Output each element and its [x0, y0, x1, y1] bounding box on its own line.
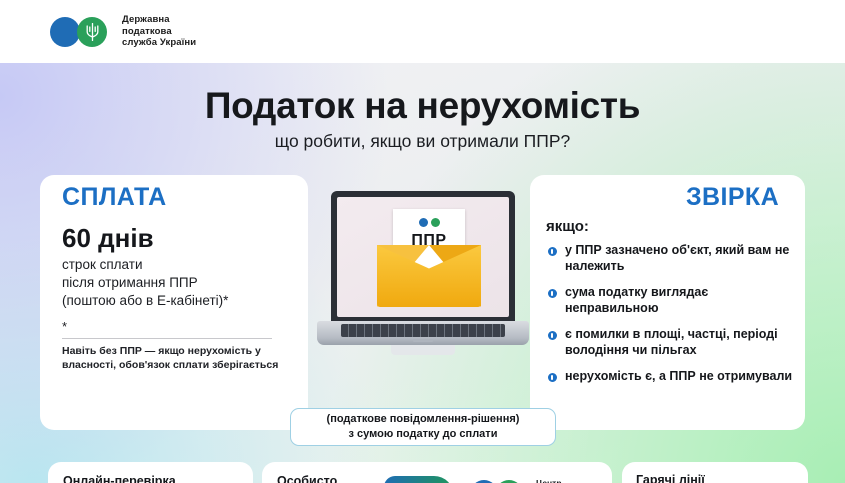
- footnote-star: *: [62, 319, 67, 334]
- payment-line-3: (поштою або в Е-кабінеті)*: [62, 292, 294, 310]
- info-bullet-icon: [548, 247, 557, 256]
- center-line-1: Центр: [536, 478, 605, 483]
- logo-circles: [50, 17, 112, 47]
- service-center-text: Центр обслуговування платників: [536, 478, 605, 483]
- laptop-keyboard: [341, 324, 505, 337]
- page-subtitle: що робити, якщо ви отримали ППР?: [0, 131, 845, 152]
- info-bullet-icon: [548, 331, 557, 340]
- laptop-lid: ППР: [331, 191, 515, 323]
- page-title: Податок на нерухомість: [0, 85, 845, 127]
- logo-blue-circle: [50, 17, 80, 47]
- list-item: є помилки в площі, частці, періоді волод…: [548, 327, 798, 358]
- reconciliation-if-label: якщо:: [546, 218, 589, 235]
- payment-term-value: 60 днів: [62, 223, 154, 254]
- in-person-title: Особисто: [277, 474, 390, 483]
- hotline-title: Гарячі лінії: [636, 473, 808, 483]
- online-check-card: Онлайн-перевірка cabinet.tax.gov.ua (КЕП…: [48, 462, 253, 483]
- list-item-label: сума податку виглядає неправильною: [565, 285, 798, 316]
- reconciliation-heading: ЗВІРКА: [686, 183, 779, 212]
- footnote-divider: [62, 338, 272, 339]
- list-item: нерухомість є, а ППР не отримували: [548, 369, 798, 385]
- caption-line-2: з сумою податку до сплати: [327, 427, 520, 442]
- laptop-icon: ППР: [317, 191, 529, 381]
- list-item-label: нерухомість є, а ППР не отримували: [565, 369, 792, 385]
- page-header: Державна податкова служба України: [0, 0, 845, 63]
- logo-green-circle: [77, 17, 107, 47]
- laptop-screen: ППР: [337, 197, 509, 317]
- laptop-stand: [391, 345, 455, 355]
- organization-name: Державна податкова служба України: [122, 14, 196, 49]
- in-person-card: Особисто м. Київ, вул. Миколи Лєскова, 4…: [262, 462, 612, 483]
- payment-heading: СПЛАТА: [62, 183, 167, 212]
- org-line-2: податкова: [122, 26, 196, 38]
- illustration-caption: (податкове повідомлення-рішення) з сумою…: [290, 408, 556, 446]
- online-check-title: Онлайн-перевірка: [63, 474, 253, 483]
- list-item-label: є помилки в площі, частці, періоді волод…: [565, 327, 798, 358]
- letter-dot-green-icon: [431, 218, 440, 227]
- hotline-card: Гарячі лінії (075) 928-02-23 (WhatsApp) …: [622, 462, 808, 483]
- reconciliation-list: у ППР зазначено об'єкт, який вам не нале…: [548, 243, 798, 396]
- infographic-canvas: Податок на нерухомість що робити, якщо в…: [0, 63, 845, 483]
- laptop-trackpad: [413, 339, 433, 342]
- organization-logo: Державна податкова служба України: [50, 14, 196, 49]
- letter-logo-dots: [393, 218, 465, 227]
- payment-line-2: після отримання ППР: [62, 274, 294, 292]
- info-bullet-icon: [548, 373, 557, 382]
- tax-consultants-office-badge: Офіс податкових консультантів: [384, 476, 454, 483]
- payment-footnote: Навіть без ППР — якщо нерухомість у влас…: [62, 344, 290, 372]
- trident-icon: [86, 23, 99, 41]
- org-line-1: Державна: [122, 14, 196, 26]
- list-item-label: у ППР зазначено об'єкт, який вам не нале…: [565, 243, 798, 274]
- org-line-3: служба України: [122, 37, 196, 49]
- laptop-base: [317, 321, 529, 345]
- info-bullet-icon: [548, 289, 557, 298]
- service-center-badge: Центр обслуговування платників: [470, 478, 605, 483]
- list-item: сума податку виглядає неправильною: [548, 285, 798, 316]
- payment-description: строк сплати після отримання ППР (поштою…: [62, 256, 294, 310]
- letter-dot-blue-icon: [419, 218, 428, 227]
- payment-line-1: строк сплати: [62, 256, 294, 274]
- list-item: у ППР зазначено об'єкт, який вам не нале…: [548, 243, 798, 274]
- caption-line-1: (податкове повідомлення-рішення): [327, 412, 520, 427]
